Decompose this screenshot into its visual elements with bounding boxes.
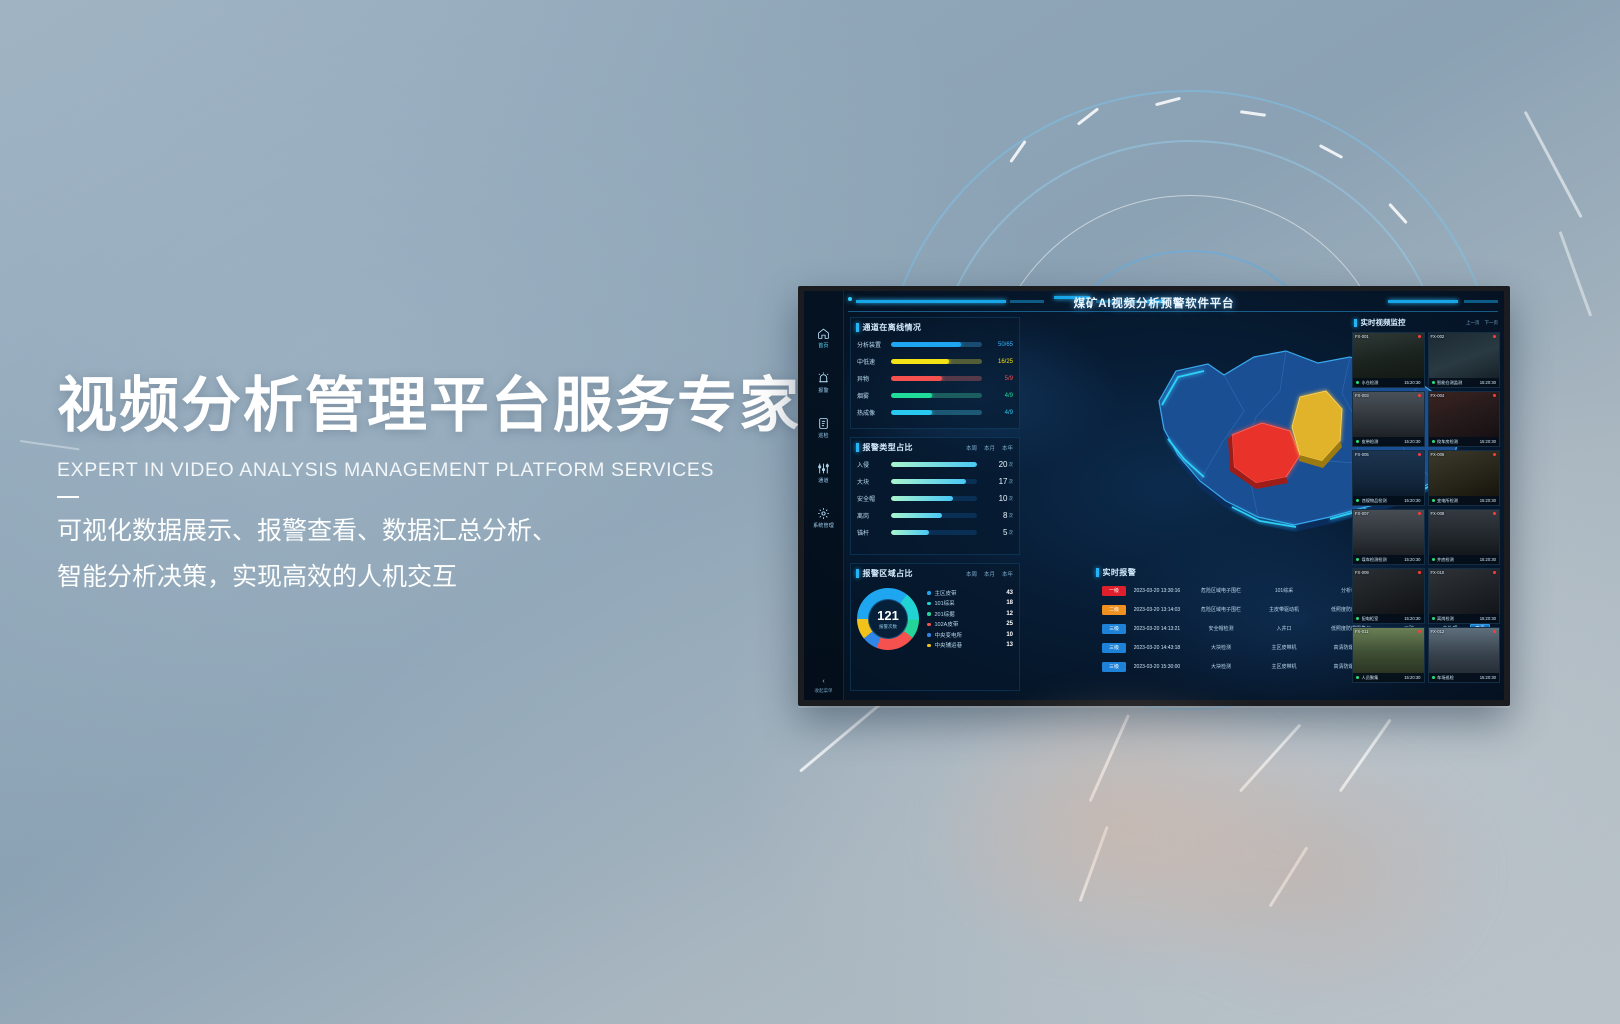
channel-label: 异物	[857, 374, 891, 383]
channel-label: 中低速	[857, 357, 891, 366]
sidebar: 首页 报警 巡检 通道	[804, 291, 844, 700]
video-tile-footer: 离岗检测15:20:30	[1429, 614, 1500, 623]
header-frame-line	[848, 311, 1498, 312]
channel-progress-track	[891, 376, 982, 381]
legend-label: 201综掘	[935, 610, 1003, 618]
recording-indicator-icon	[1418, 335, 1421, 338]
legend-item: 101综采18	[927, 599, 1013, 607]
camera-name: 智能仓测监测	[1437, 380, 1480, 386]
alarm-type-label: 离岗	[857, 511, 891, 520]
donut-center: 121 报警次数	[868, 599, 908, 639]
donut-legend: 主区皮带43101综采18201综掘12102A皮带25中央变电所10中央辅运巷…	[927, 589, 1013, 650]
camera-time: 15:20:30	[1480, 498, 1496, 503]
video-tile[interactable]: FX-004绞车房检测15:20:30	[1428, 391, 1501, 447]
alarm-time: 2023-03-20 14:13:21	[1126, 626, 1188, 632]
alarm-type-unit: 次	[1009, 479, 1014, 485]
video-tile[interactable]: FX-002智能仓测监测15:20:30	[1428, 332, 1501, 388]
light-streak	[1079, 826, 1109, 902]
hero-desc-line-1: 可视化数据展示、报警查看、数据汇总分析、	[57, 508, 817, 554]
alarm-type-progress-track	[891, 496, 977, 501]
channel-value: 5/9	[987, 376, 1013, 382]
panel-header: 报警类型占比 本周本月本年	[851, 438, 1019, 456]
camera-name: 配电柜室	[1362, 616, 1405, 622]
alarm-type-progress-track	[891, 530, 977, 535]
online-status-icon	[1356, 381, 1359, 384]
page-title: 视频分析管理平台服务专家	[57, 372, 817, 439]
video-surveillance-panel: 实时视频监控 上一页 下一页 FX-001水仓检测15:20:30FX-002智…	[1352, 315, 1500, 696]
legend-item: 中央变电所10	[927, 631, 1013, 639]
camera-time: 15:20:30	[1404, 616, 1420, 621]
recording-indicator-icon	[1493, 630, 1496, 633]
alarm-time: 2023-03-20 13:30:16	[1126, 588, 1188, 594]
camera-time: 15:20:30	[1480, 675, 1496, 680]
camera-name: 煤车检测检测	[1362, 557, 1405, 563]
inspection-icon	[817, 417, 830, 430]
recording-indicator-icon	[1493, 571, 1496, 574]
ring-tick	[1077, 107, 1099, 125]
alarm-type-unit: 次	[1009, 530, 1014, 536]
title-marker	[856, 569, 859, 578]
recording-indicator-icon	[1493, 512, 1496, 515]
alarm-type-label: 入侵	[857, 460, 891, 469]
light-streak	[1559, 231, 1593, 317]
period-tab[interactable]: 本周	[966, 570, 977, 578]
legend-color-dot	[927, 623, 931, 627]
channel-row: 异物5/9	[851, 370, 1019, 387]
alarm-type-panel: 报警类型占比 本周本月本年 入侵20次大块17次安全帽10次离岗8次锚杆5次	[850, 437, 1020, 555]
camera-time: 15:20:30	[1404, 557, 1420, 562]
recording-indicator-icon	[1418, 453, 1421, 456]
sidebar-item-label: 报警	[818, 387, 828, 394]
alarm-type-progress-track	[891, 513, 977, 518]
video-panel-header: 实时视频监控 上一页 下一页	[1352, 315, 1500, 332]
alarm-type-label: 安全帽	[857, 494, 891, 503]
header-bar	[1464, 300, 1498, 303]
dashboard-screen: 煤矿AI视频分析预警软件平台 首页 报警	[804, 291, 1504, 700]
alarm-type-value: 20	[982, 460, 1008, 469]
legend-value: 13	[1006, 642, 1013, 648]
camera-id: FX-010	[1431, 570, 1445, 575]
alarm-time: 2023-03-20 15:30:00	[1126, 664, 1188, 670]
camera-time: 15:20:30	[1404, 498, 1420, 503]
sidebar-item-inspection[interactable]: 巡检	[804, 405, 843, 450]
alarm-type-label: 大块	[857, 477, 891, 486]
channel-progress-track	[891, 393, 982, 398]
video-tile-footer: 人员聚集15:20:30	[1353, 673, 1424, 682]
video-pagination[interactable]: 上一页 下一页	[1466, 320, 1498, 326]
recording-indicator-icon	[1418, 630, 1421, 633]
panel-title: 报警类型占比	[863, 442, 913, 453]
online-status-icon	[1356, 499, 1359, 502]
channel-row: 烟雾4/9	[851, 387, 1019, 404]
video-tile-footer: 绞车房检测15:20:30	[1429, 437, 1500, 446]
camera-name: 绞车房检测	[1437, 439, 1480, 445]
promo-banner: 视频分析管理平台服务专家 EXPERT IN VIDEO ANALYSIS MA…	[0, 0, 1620, 1024]
alarm-type-progress-track	[891, 462, 977, 467]
legend-value: 25	[1006, 621, 1013, 627]
hero-desc-line-2: 智能分析决策，实现高效的人机交互	[57, 554, 817, 600]
period-tabs[interactable]: 本周本月本年	[966, 570, 1013, 578]
alarm-area: 101综采	[1254, 587, 1314, 594]
legend-label: 中央辅运巷	[935, 641, 1003, 649]
alarm-type-unit: 次	[1009, 462, 1014, 468]
alarm-type-label: 锚杆	[857, 528, 891, 537]
channel-row: 中低速16/25	[851, 353, 1019, 370]
legend-item: 中央辅运巷13	[927, 641, 1013, 649]
video-tile-footer: 车场巡检15:20:30	[1429, 673, 1500, 682]
donut-chart-area: 121 报警次数 主区皮带43101综采18201综掘12102A皮带25中央变…	[851, 582, 1019, 652]
panel-title: 实时报警	[1103, 567, 1137, 578]
channel-label: 分析装置	[857, 340, 891, 349]
alarm-type-value: 5	[982, 528, 1008, 537]
channel-progress-track	[891, 342, 982, 347]
camera-id: FX-011	[1355, 629, 1368, 634]
header-bar	[1388, 300, 1458, 303]
online-status-icon	[1432, 440, 1435, 443]
legend-value: 43	[1006, 590, 1013, 596]
camera-id: FX-005	[1355, 452, 1369, 457]
sidebar-item-label: 巡检	[818, 432, 828, 439]
alarm-type-progress-fill	[891, 530, 929, 535]
legend-color-dot	[927, 612, 931, 616]
sidebar-item-label: 系统管理	[813, 522, 834, 529]
video-tile-footer: 煤车检测检测15:20:30	[1353, 555, 1424, 564]
light-streak	[799, 703, 881, 773]
dashboard-title: 煤矿AI视频分析预警软件平台	[804, 295, 1504, 311]
camera-id: FX-002	[1431, 334, 1445, 339]
online-status-icon	[1432, 558, 1435, 561]
channel-icon	[817, 462, 830, 475]
panel-title: 通道在离线情况	[863, 322, 922, 333]
light-streak	[1524, 111, 1583, 218]
video-tile[interactable]: FX-009配电柜室15:20:30	[1352, 568, 1425, 624]
sidebar-collapse-label: 收起菜单	[804, 688, 843, 694]
online-status-icon	[1432, 499, 1435, 502]
legend-color-dot	[927, 591, 931, 595]
hero-copy: 视频分析管理平台服务专家 EXPERT IN VIDEO ANALYSIS MA…	[57, 372, 817, 601]
alarm-area: 主皮带驱动机	[1254, 606, 1314, 613]
recording-indicator-icon	[1493, 335, 1496, 338]
camera-time: 15:20:30	[1404, 675, 1420, 680]
monitor-device: 煤矿AI视频分析预警软件平台 首页 报警	[798, 286, 1510, 706]
camera-id: FX-009	[1355, 570, 1369, 575]
panel-header: 通道在离线情况	[851, 318, 1019, 336]
alarm-type: 大块检测	[1188, 663, 1254, 670]
video-tile[interactable]: FX-011人员聚集15:20:30	[1352, 627, 1425, 683]
donut-caption: 报警次数	[879, 624, 897, 630]
ring-tick	[1240, 110, 1266, 117]
alarm-type-value: 10	[982, 494, 1008, 503]
ring-tick	[1319, 144, 1343, 159]
alarm-time: 2023-03-20 13:14:03	[1126, 607, 1188, 613]
recording-indicator-icon	[1418, 571, 1421, 574]
video-tile[interactable]: FX-006变电所检测15:20:30	[1428, 450, 1501, 506]
camera-id: FX-007	[1355, 511, 1369, 516]
video-tile[interactable]: FX-008井底检测15:20:30	[1428, 509, 1501, 565]
camera-name: 井底检测	[1437, 557, 1480, 563]
camera-time: 15:20:30	[1404, 380, 1420, 385]
recording-indicator-icon	[1493, 394, 1496, 397]
alarm-type-progress-fill	[891, 479, 966, 484]
alarm-type-row: 锚杆5次	[851, 524, 1019, 541]
camera-id: FX-008	[1431, 511, 1445, 516]
camera-id: FX-003	[1355, 393, 1369, 398]
dashboard-header: 煤矿AI视频分析预警软件平台	[804, 291, 1504, 317]
video-tile-footer: 井底检测15:20:30	[1429, 555, 1500, 564]
alarm-type-row: 安全帽10次	[851, 490, 1019, 507]
video-tile[interactable]: FX-001水仓检测15:20:30	[1352, 332, 1425, 388]
legend-label: 102A皮带	[935, 620, 1003, 628]
alarm-type-row: 入侵20次	[851, 456, 1019, 473]
alarm-area: 主区皮带机	[1254, 644, 1314, 651]
video-tile[interactable]: FX-012车场巡检15:20:30	[1428, 627, 1501, 683]
camera-time: 15:20:30	[1480, 380, 1496, 385]
camera-name: 皮带检测	[1362, 439, 1405, 445]
channel-label: 烟雾	[857, 391, 891, 400]
alarm-type-row: 大块17次	[851, 473, 1019, 490]
legend-value: 12	[1006, 611, 1013, 617]
period-tab[interactable]: 本年	[1002, 444, 1013, 452]
home-icon	[817, 327, 830, 340]
legend-color-dot	[927, 602, 931, 606]
camera-name: 违规物品检测	[1362, 498, 1405, 504]
ring-tick	[1388, 203, 1408, 224]
video-tile-footer: 违规物品检测15:20:30	[1353, 496, 1424, 505]
camera-name: 车场巡检	[1437, 675, 1480, 681]
ring-tick	[1155, 97, 1181, 107]
legend-label: 中央变电所	[935, 631, 1003, 639]
alarm-type: 安全帽检测	[1188, 625, 1254, 632]
alarm-type-unit: 次	[1009, 513, 1014, 519]
legend-item: 主区皮带43	[927, 589, 1013, 597]
camera-time: 15:20:30	[1480, 616, 1496, 621]
video-grid: FX-001水仓检测15:20:30FX-002智能仓测监测15:20:30FX…	[1352, 332, 1500, 683]
collapse-icon: ‹	[822, 678, 824, 685]
camera-id: FX-012	[1431, 629, 1445, 634]
channel-value: 50/65	[987, 342, 1013, 348]
donut-total: 121	[877, 609, 899, 622]
camera-name: 水仓检测	[1362, 380, 1405, 386]
channel-progress-fill	[891, 393, 932, 398]
camera-id: FX-006	[1431, 452, 1445, 457]
online-status-icon	[1432, 381, 1435, 384]
next-page-button[interactable]: 下一页	[1485, 320, 1499, 326]
channel-value: 16/25	[987, 359, 1013, 365]
light-streak	[1089, 714, 1130, 802]
alarm-type: 危险区域电子围栏	[1188, 606, 1254, 613]
legend-value: 18	[1006, 600, 1013, 606]
status-badge: 一级	[1102, 586, 1126, 596]
legend-label: 101综采	[935, 599, 1003, 607]
panel-title: 报警区域占比	[863, 568, 913, 579]
channel-progress-fill	[891, 342, 961, 347]
camera-name: 离岗检测	[1437, 616, 1480, 622]
legend-value: 10	[1006, 632, 1013, 638]
video-tile-footer: 智能仓测监测15:20:30	[1429, 378, 1500, 387]
legend-item: 201综掘12	[927, 610, 1013, 618]
title-marker	[1354, 319, 1357, 327]
alarm-time: 2023-03-20 14:43:18	[1126, 645, 1188, 651]
alarm-type-value: 8	[982, 511, 1008, 520]
alarm-area: 主区皮带机	[1254, 663, 1314, 670]
sidebar-item-system[interactable]: 系统管理	[804, 495, 843, 540]
sidebar-collapse-button[interactable]: ‹ 收起菜单	[804, 670, 843, 694]
alarm-area-panel: 报警区域占比 本周本月本年 121 报警次数 主区皮带43101综采18201综…	[850, 563, 1020, 691]
channel-row-list: 分析装置50/65中低速16/25异物5/9烟雾4/9热成像4/9	[851, 336, 1019, 421]
alarm-type: 大块检测	[1188, 644, 1254, 651]
light-streak	[1239, 724, 1301, 793]
prev-page-button[interactable]: 上一页	[1466, 320, 1480, 326]
status-badge: 三级	[1102, 643, 1126, 653]
alarm-area: 入井口	[1254, 625, 1314, 632]
alarm-type-row-list: 入侵20次大块17次安全帽10次离岗8次锚杆5次	[851, 456, 1019, 541]
status-badge: 三级	[1102, 624, 1126, 634]
channel-progress-track	[891, 410, 982, 415]
sidebar-item-label: 通道	[818, 477, 828, 484]
camera-id: FX-001	[1355, 334, 1369, 339]
gear-icon	[817, 507, 830, 520]
alarm-type-progress-fill	[891, 513, 942, 518]
online-status-icon	[1356, 558, 1359, 561]
title-marker	[1096, 568, 1099, 577]
alarm-type-progress-fill	[891, 496, 953, 501]
channel-row: 热成像4/9	[851, 404, 1019, 421]
panel-header: 报警区域占比 本周本月本年	[851, 564, 1019, 582]
camera-name: 人员聚集	[1362, 675, 1405, 681]
online-status-icon	[1432, 676, 1435, 679]
alarm-type: 危险区域电子围栏	[1188, 587, 1254, 594]
video-tile-footer: 皮带检测15:20:30	[1353, 437, 1424, 446]
sidebar-item-home[interactable]: 首页	[804, 315, 843, 360]
alarm-type-progress-track	[891, 479, 977, 484]
video-tile[interactable]: FX-007煤车检测检测15:20:30	[1352, 509, 1425, 565]
status-badge: 二级	[1102, 605, 1126, 615]
camera-name: 变电所检测	[1437, 498, 1480, 504]
channel-progress-fill	[891, 376, 942, 381]
video-tile-footer: 变电所检测15:20:30	[1429, 496, 1500, 505]
video-tile-footer: 配电柜室15:20:30	[1353, 614, 1424, 623]
period-tab[interactable]: 本月	[984, 444, 995, 452]
sidebar-item-alarm[interactable]: 报警	[804, 360, 843, 405]
video-panel-title: 实时视频监控	[1361, 317, 1406, 328]
status-badge: 三级	[1102, 662, 1126, 672]
sidebar-item-channel[interactable]: 通道	[804, 450, 843, 495]
hero-subtitle-en: EXPERT IN VIDEO ANALYSIS MANAGEMENT PLAT…	[57, 459, 817, 482]
camera-time: 15:20:30	[1480, 439, 1496, 444]
video-tile[interactable]: FX-010离岗检测15:20:30	[1428, 568, 1501, 624]
light-streak	[1339, 719, 1392, 793]
period-tab[interactable]: 本月	[984, 570, 995, 578]
alarm-type-unit: 次	[1009, 496, 1014, 502]
channel-status-panel: 通道在离线情况 分析装置50/65中低速16/25异物5/9烟雾4/9热成像4/…	[850, 317, 1020, 429]
camera-time: 15:20:30	[1480, 557, 1496, 562]
title-marker	[856, 323, 859, 332]
hero-divider	[57, 496, 79, 498]
recording-indicator-icon	[1418, 512, 1421, 515]
online-status-icon	[1356, 617, 1359, 620]
legend-item: 102A皮带25	[927, 620, 1013, 628]
video-tile-footer: 水仓检测15:20:30	[1353, 378, 1424, 387]
title-marker	[856, 443, 859, 452]
video-tile[interactable]: FX-005违规物品检测15:20:30	[1352, 450, 1425, 506]
video-tile[interactable]: FX-003皮带检测15:20:30	[1352, 391, 1425, 447]
channel-progress-fill	[891, 410, 932, 415]
camera-time: 15:20:30	[1404, 439, 1420, 444]
legend-color-dot	[927, 633, 931, 637]
alarm-icon	[817, 372, 830, 385]
channel-progress-fill	[891, 359, 949, 364]
online-status-icon	[1432, 617, 1435, 620]
channel-value: 4/9	[987, 410, 1013, 416]
channel-value: 4/9	[987, 393, 1013, 399]
period-tab[interactable]: 本周	[966, 444, 977, 452]
light-streak	[1269, 846, 1309, 907]
channel-label: 热成像	[857, 408, 891, 417]
alarm-type-value: 17	[982, 477, 1008, 486]
camera-id: FX-004	[1431, 393, 1445, 398]
period-tab[interactable]: 本年	[1002, 570, 1013, 578]
alarm-type-progress-fill	[891, 462, 977, 467]
alarm-type-row: 离岗8次	[851, 507, 1019, 524]
recording-indicator-icon	[1418, 394, 1421, 397]
online-status-icon	[1356, 440, 1359, 443]
legend-label: 主区皮带	[935, 589, 1003, 597]
period-tabs[interactable]: 本周本月本年	[966, 444, 1013, 452]
recording-indicator-icon	[1493, 453, 1496, 456]
ring-tick	[1009, 140, 1026, 163]
sidebar-item-label: 首页	[818, 342, 828, 349]
legend-color-dot	[927, 644, 931, 648]
channel-row: 分析装置50/65	[851, 336, 1019, 353]
online-status-icon	[1356, 676, 1359, 679]
alarm-area-donut: 121 报警次数	[857, 588, 919, 650]
channel-progress-track	[891, 359, 982, 364]
